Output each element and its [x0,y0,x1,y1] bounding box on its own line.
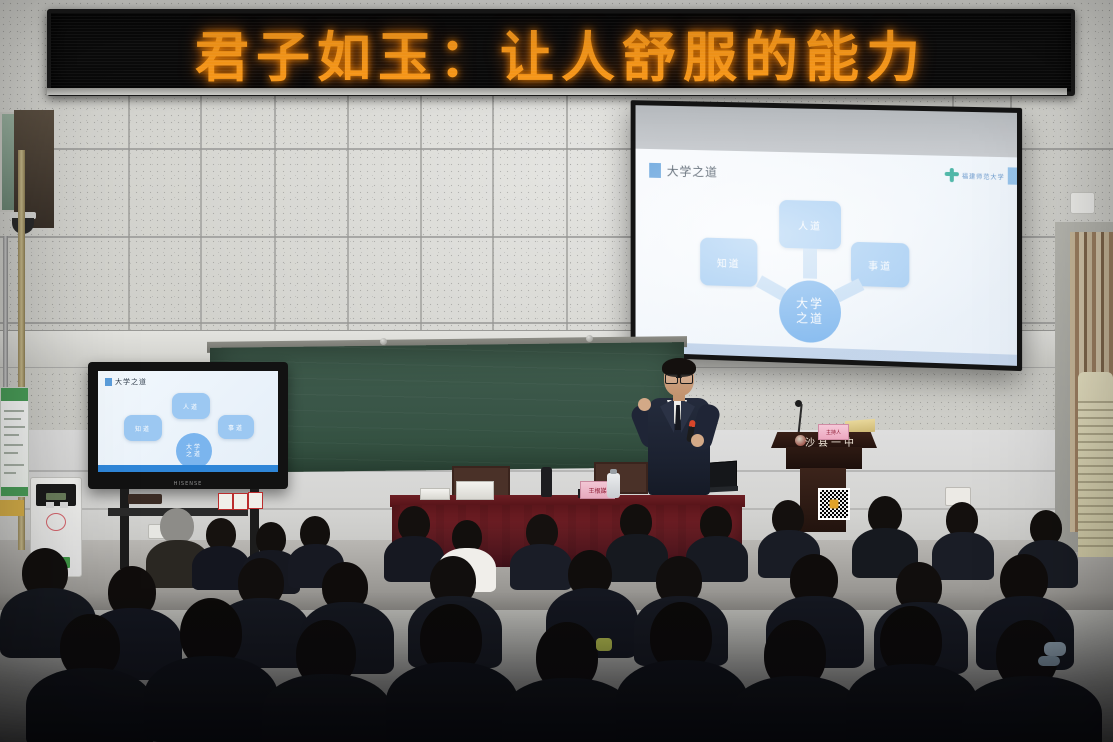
podium-body [786,447,862,469]
water-dispenser[interactable] [30,477,82,577]
podium-paper [845,419,875,435]
audience-shoulders [730,676,862,742]
shelf-item [218,493,233,510]
projection-screen: 大学之道 福建师范大学 人道 知道 事道 大学 之道 [631,100,1022,371]
audience-shoulders [962,676,1102,742]
lcd-monitor-brand: HISENSE [174,481,203,487]
projected-slide: 大学之道 福建师范大学 人道 知道 事道 大学 之道 [636,149,1017,366]
shelf-object [0,500,24,516]
audience-shoulders [846,664,978,742]
tv-slide-title-marker [105,378,112,386]
thermos [541,467,552,497]
audience-head [650,602,712,672]
audience-head [420,604,482,674]
slide-center-line-1: 大学 [796,296,824,312]
audience-shoulders [616,660,748,742]
audience-head [536,622,598,692]
led-banner-text: 君子如玉：让人舒服的能力 [195,13,927,92]
lecture-hall-photo: 君子如玉：让人舒服的能力 大学之道 福建师范大学 人道 知道 事道 大学 之 [0,0,1113,742]
tv-node-left: 知道 [124,415,162,441]
lcd-monitor-screen: 大学之道 人道 知道 事道 大学 之道 [98,371,278,472]
dispenser-logo [46,513,66,531]
audience-shadow-gradient [0,592,1113,742]
led-banner: 君子如玉：让人舒服的能力 [47,9,1075,96]
university-logo-icon [945,168,959,182]
tv-center-line-2: 之道 [186,451,202,458]
slide-node-top: 人道 [779,200,841,250]
audience-head [996,620,1058,690]
slide-title: 大学之道 [667,162,718,180]
slide-logo-text: 福建师范大学 [962,171,1005,181]
tv-node-top: 人道 [172,393,210,419]
audience-head [60,614,120,680]
audience-shoulders [144,656,278,742]
qr-center-logo-icon [830,500,839,509]
slide-logo: 福建师范大学 [945,168,1005,184]
slide-center-node: 大学 之道 [779,280,841,344]
head-table-skirt [392,505,742,567]
tv-slide-bottom-bar [98,465,278,472]
dispenser-control-panel[interactable] [36,484,76,506]
power-socket [945,487,971,506]
audience-head [764,620,826,690]
slide-logo-chip [1008,167,1017,184]
banner-mount-rail [47,88,1067,95]
table-papers [456,481,494,500]
tv-slide-title: 大学之道 [115,377,147,387]
floor-air-conditioner[interactable] [1078,372,1113,557]
hair-clip [596,638,612,651]
shelf-remote-box [128,494,162,504]
slide-node-left: 知道 [700,237,757,286]
arrow-top [803,248,817,278]
tv-slide-title-row: 大学之道 [105,377,147,387]
audience-head [296,620,356,688]
audience-shoulders [300,602,394,674]
tv-center-node: 大学 之道 [176,433,212,469]
slide-center-line-2: 之道 [796,311,824,327]
slide-title-row: 大学之道 [649,162,718,181]
speaker-person [640,360,714,495]
audience-shoulders [84,608,182,680]
host-sign: 主持人 [818,424,849,440]
dispenser-display [46,493,66,500]
audience-shoulders [874,602,968,674]
audience-shoulders [502,678,634,742]
tv-node-right: 事道 [218,415,254,439]
table-papers [420,488,450,500]
audience-shoulders [26,668,154,742]
wall-box [1070,192,1095,214]
wall-poster [0,387,29,497]
hair-clip [1038,656,1060,666]
audience-head [880,606,942,676]
lcd-monitor[interactable]: 大学之道 人道 知道 事道 大学 之道 HISENSE [88,362,288,489]
speaker-right-hand [691,434,704,447]
audience-shoulders [386,662,518,742]
shelf-item [233,493,248,510]
tv-center-line-1: 大学 [186,444,202,451]
dispenser-label [40,557,70,568]
audience-shoulders [262,674,392,742]
speaker-left-hand [638,398,651,411]
qr-code [818,488,850,520]
slide-title-marker [649,163,661,178]
hair-clip [1044,642,1066,656]
shelf-item [248,492,263,509]
power-outlet [148,524,166,539]
water-bottle [607,473,620,498]
glasses-icon [665,374,693,382]
